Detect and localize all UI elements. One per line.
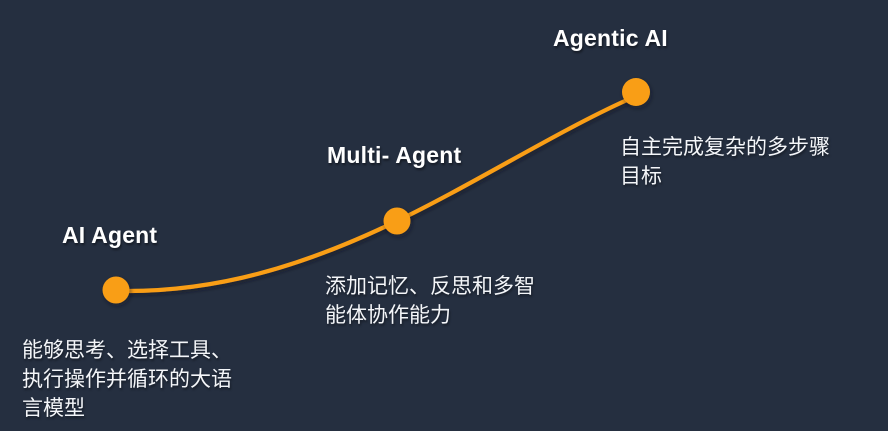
- node-dot-agentic-ai[interactable]: [622, 78, 650, 106]
- node-dot-ai-agent[interactable]: [103, 277, 130, 304]
- stage-desc-ai-agent: 能够思考、选择工具、 执行操作并循环的大语 言模型: [22, 337, 232, 424]
- curve-path: [127, 100, 627, 291]
- stage-title-ai-agent: AI Agent: [62, 222, 157, 249]
- stage-title-agentic-ai: Agentic AI: [553, 25, 668, 52]
- stage-desc-multi-agent: 添加记忆、反思和多智 能体协作能力: [325, 273, 535, 331]
- stage-desc-agentic-ai: 自主完成复杂的多步骤 目标: [620, 134, 830, 192]
- node-dot-multi-agent[interactable]: [384, 208, 411, 235]
- evolution-diagram: AI Agent 能够思考、选择工具、 执行操作并循环的大语 言模型 Multi…: [0, 0, 888, 431]
- stage-title-multi-agent: Multi- Agent: [327, 142, 461, 169]
